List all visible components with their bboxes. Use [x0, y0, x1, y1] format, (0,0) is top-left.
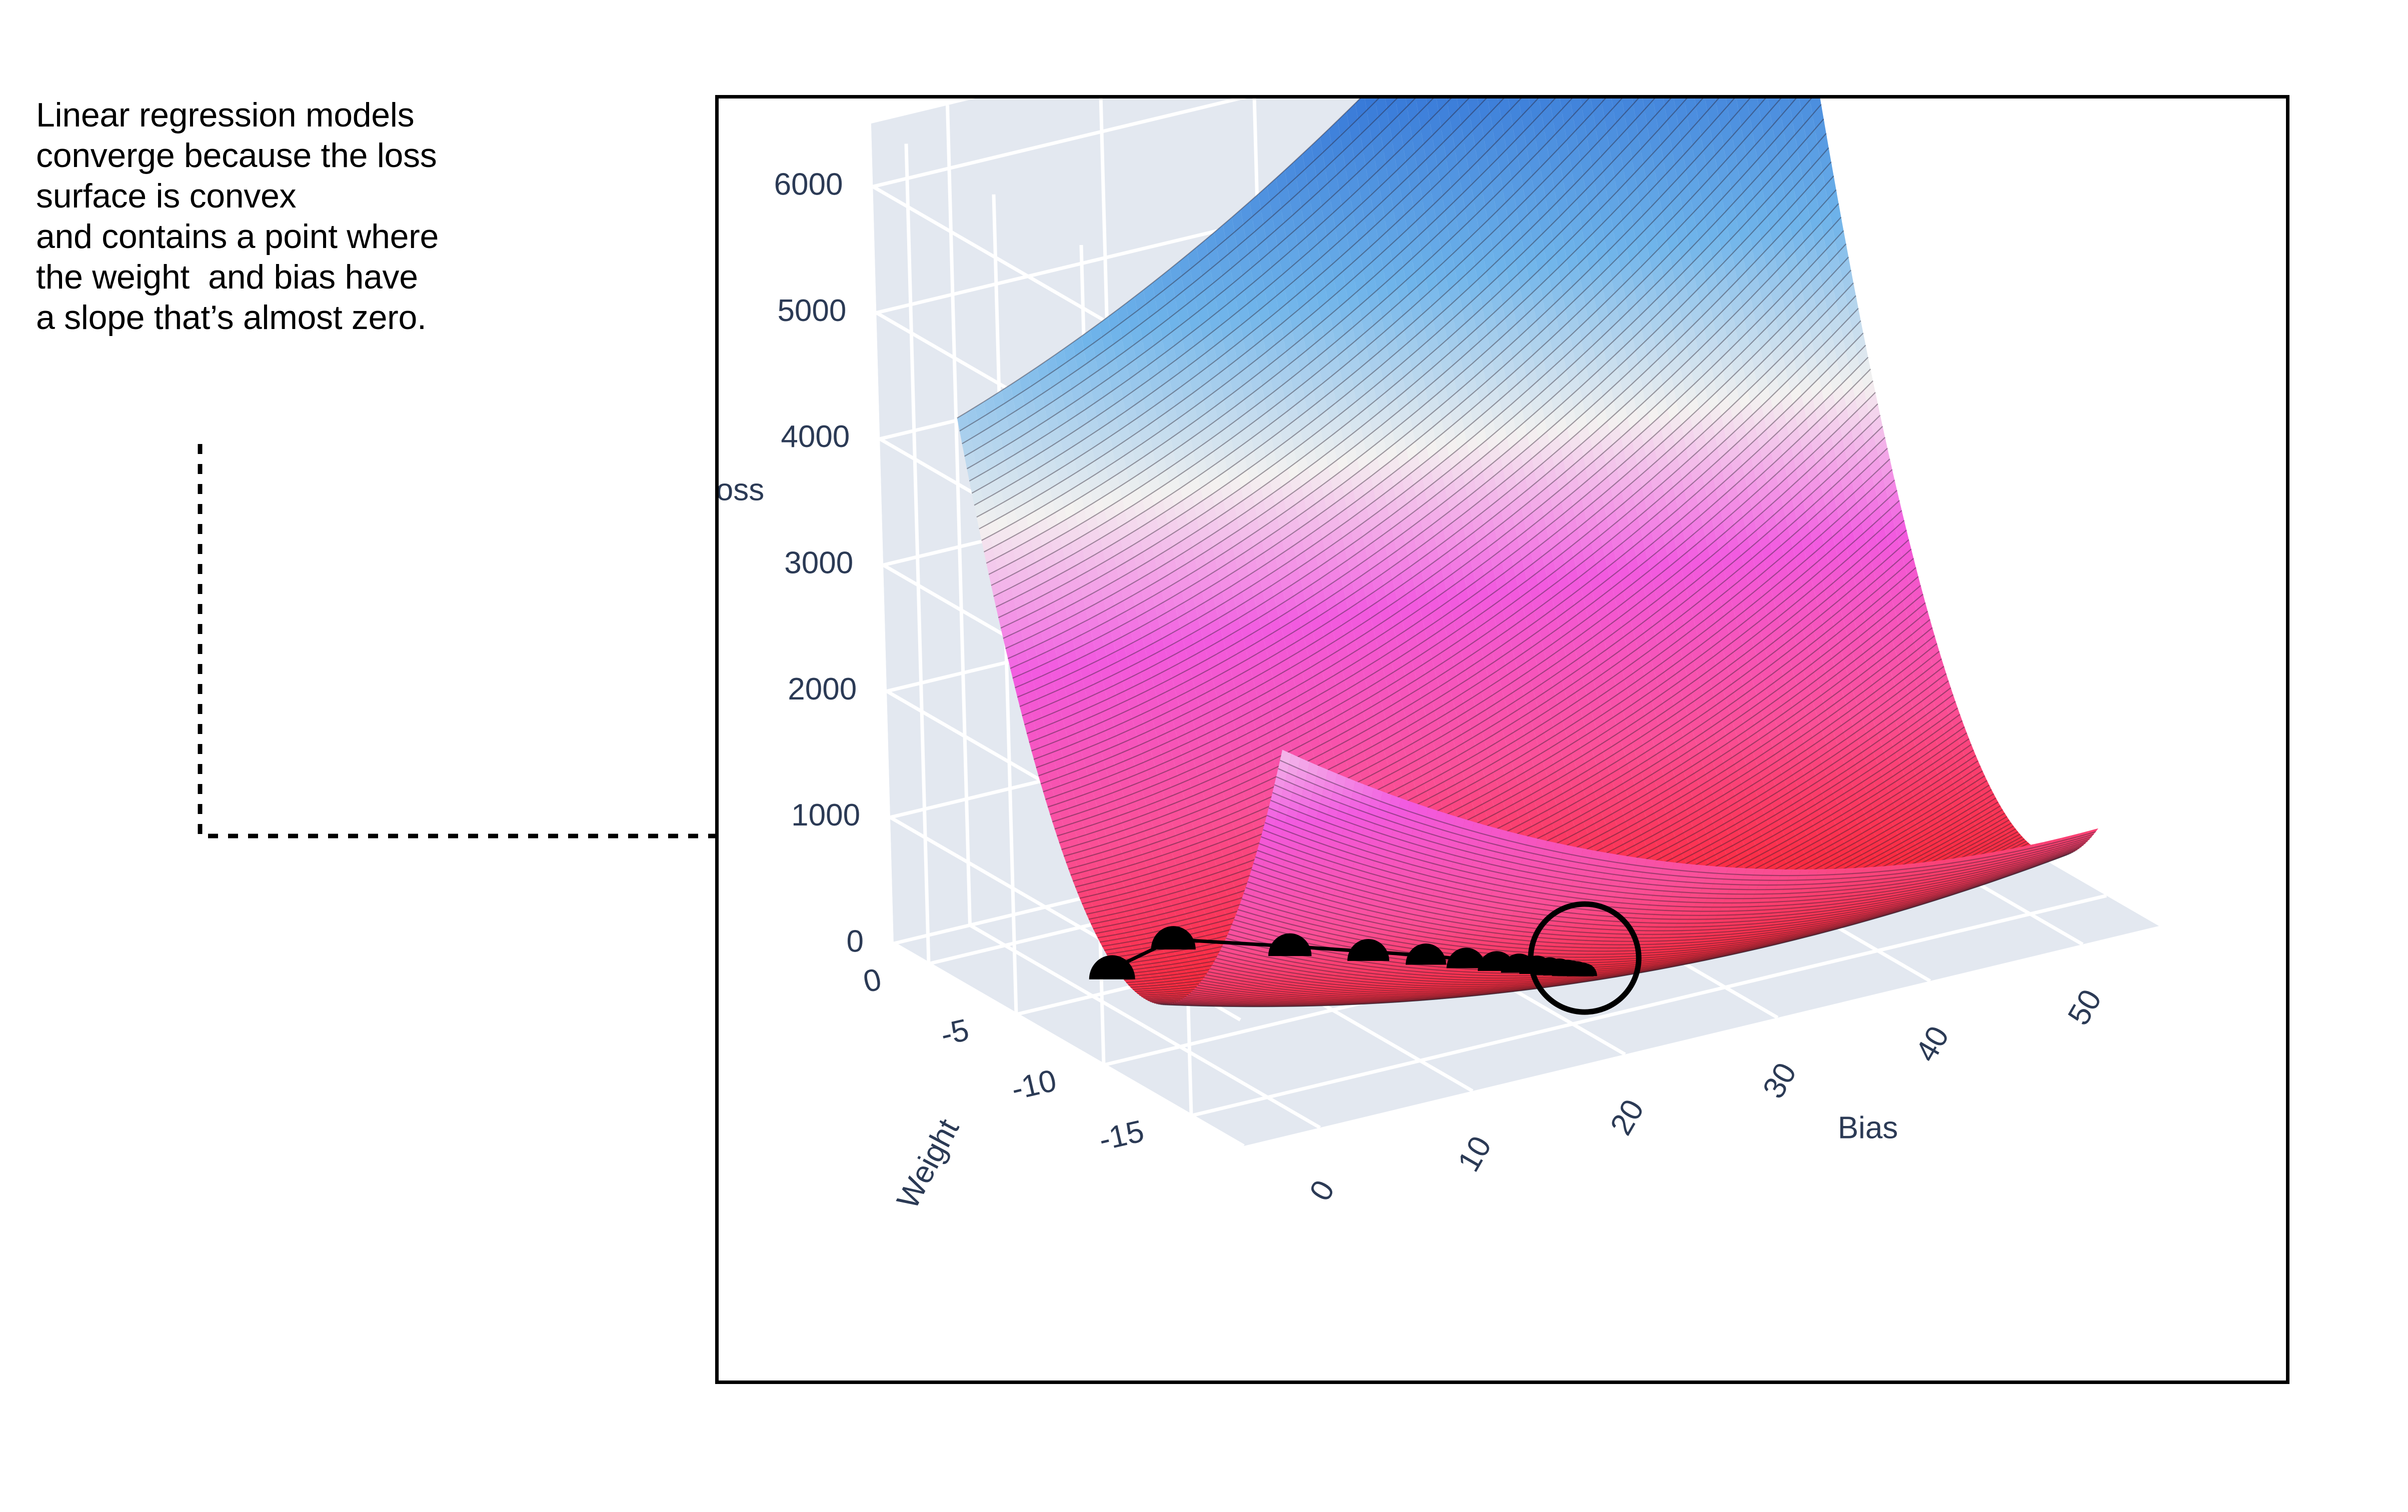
axis-tick-label: 5000 — [777, 293, 846, 328]
axis-tick-label: -15 — [1096, 1114, 1147, 1157]
axis-tick-label: 0 — [860, 962, 885, 999]
annotation-line: and contains a point where — [36, 216, 661, 257]
axis-tick-label: 40 — [1909, 1020, 1956, 1067]
axis-tick-label: 0 — [1303, 1174, 1341, 1206]
axis-tick-label: 0 — [847, 924, 864, 958]
axis-tick-label: 20 — [1604, 1094, 1651, 1141]
x-axis-title: Bias — [1838, 1110, 1898, 1145]
axis-tick-label: 4000 — [781, 419, 850, 454]
annotation-line: Linear regression models — [36, 95, 661, 135]
z-axis-title: Loss — [719, 472, 764, 507]
annotation-line: a slope that’s almost zero. — [36, 297, 661, 338]
annotation-line: surface is convex — [36, 176, 661, 216]
axis-tick-label: -10 — [1008, 1063, 1060, 1106]
axis-tick-label: 6000 — [774, 167, 843, 202]
axis-tick-label: 10 — [1451, 1130, 1498, 1177]
axis-tick-label: 3000 — [784, 545, 853, 580]
axis-tick-label: 50 — [2061, 984, 2108, 1031]
annotation-line: the weight and bias have — [36, 257, 661, 297]
annotation-line: converge because the loss — [36, 135, 661, 176]
y-axis-title: Weight — [890, 1113, 966, 1214]
axis-tick-label: 30 — [1756, 1057, 1803, 1104]
axis-tick-label: 2000 — [788, 672, 857, 706]
axis-tick-label: -5 — [938, 1012, 972, 1052]
annotation-text-block: Linear regression models converge becaus… — [36, 95, 661, 337]
axis-tick-label: 1000 — [791, 798, 860, 832]
chart-panel: 0100020003000400050006000Loss0-5-10-15We… — [715, 95, 2289, 1384]
